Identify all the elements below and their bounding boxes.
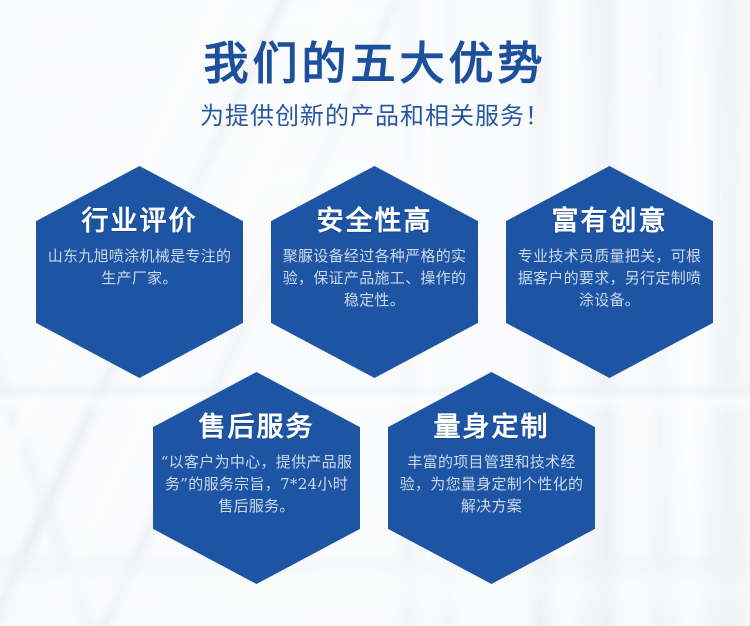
advantage-card-title: 售后服务 bbox=[153, 412, 360, 444]
advantage-card-body: 专业技术员质量把关，可根据客户的要求，另行定制喷涂设备。 bbox=[516, 245, 704, 311]
advantage-card-body: 丰富的项目管理和技术经验，为您量身定制个性化的解决方案 bbox=[397, 451, 587, 517]
advantage-card-title: 行业评价 bbox=[36, 206, 243, 238]
page-title: 我们的五大优势 bbox=[0, 38, 750, 90]
advantages-banner: 我们的五大优势 为提供创新的产品和相关服务！ 行业评价 山东九旭喷涂机械是专注的… bbox=[0, 0, 750, 626]
banner-heading-block: 我们的五大优势 为提供创新的产品和相关服务！ bbox=[0, 38, 750, 131]
advantage-card-body: 聚脲设备经过各种严格的实验，保证产品施工、操作的稳定性。 bbox=[281, 245, 469, 311]
advantage-card-title: 富有创意 bbox=[506, 206, 713, 238]
advantage-card-body: “以客户为中心，提供产品服务”的服务宗旨，7*24小时售后服务。 bbox=[159, 451, 355, 517]
advantage-card-body: 山东九旭喷涂机械是专注的生产厂家。 bbox=[42, 245, 238, 289]
advantage-card-title: 安全性高 bbox=[271, 206, 478, 238]
page-subtitle: 为提供创新的产品和相关服务！ bbox=[0, 101, 750, 131]
advantage-card-title: 量身定制 bbox=[388, 412, 595, 444]
